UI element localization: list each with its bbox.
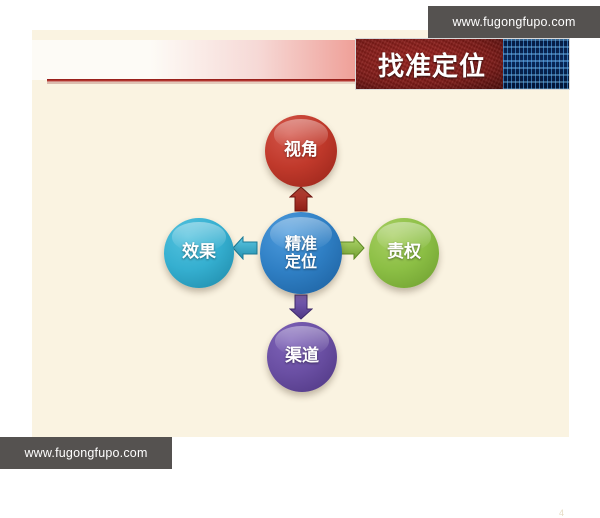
watermark-top: www.fugongfupo.com bbox=[428, 6, 600, 38]
node-left-label: 效果 bbox=[182, 243, 216, 263]
radial-diagram: 视角 效果 精准 定位 责权 渠道 4 bbox=[32, 90, 569, 437]
arrow-down-icon bbox=[289, 294, 313, 325]
node-center-precise-positioning[interactable]: 精准 定位 bbox=[260, 212, 342, 294]
node-right-responsibility[interactable]: 责权 bbox=[369, 218, 439, 288]
node-bottom-label: 渠道 bbox=[285, 347, 319, 367]
node-center-label-line2: 定位 bbox=[285, 253, 317, 271]
node-center-label-line1: 精准 bbox=[285, 235, 317, 253]
node-top-perspective[interactable]: 视角 bbox=[265, 115, 337, 187]
node-bottom-channel[interactable]: 渠道 bbox=[267, 322, 337, 392]
page-title: 找准定位 bbox=[378, 46, 486, 83]
page-number: 4 bbox=[559, 508, 564, 518]
node-right-label: 责权 bbox=[387, 243, 421, 263]
watermark-bottom: www.fugongfupo.com bbox=[0, 437, 172, 469]
node-left-effect[interactable]: 效果 bbox=[164, 218, 234, 288]
node-top-label: 视角 bbox=[284, 141, 318, 161]
title-banner: 找准定位 bbox=[355, 38, 570, 90]
arrow-left-icon bbox=[232, 236, 258, 265]
title-banner-digital-rain-texture bbox=[503, 39, 569, 89]
arrow-right-icon bbox=[339, 236, 365, 265]
